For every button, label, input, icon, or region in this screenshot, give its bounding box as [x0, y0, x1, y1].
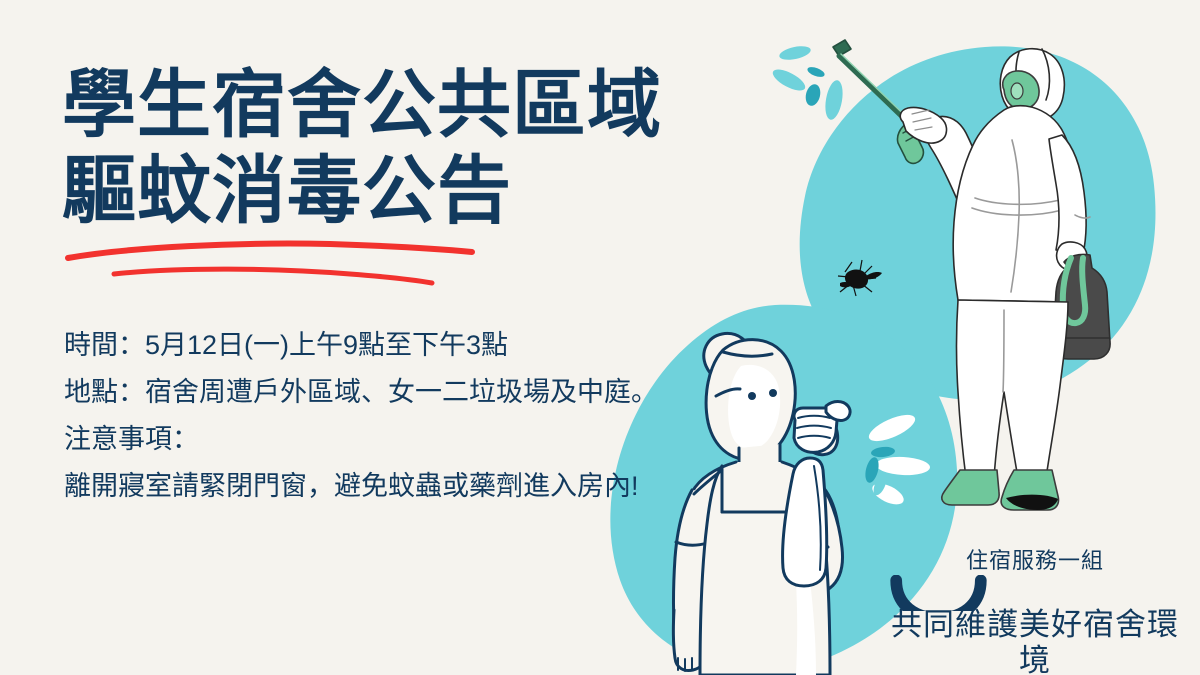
woman-eye-left	[748, 392, 756, 400]
footer-org-name: 住宿服務一組	[880, 548, 1190, 574]
smile-arc-icon	[880, 575, 997, 611]
spray-droplets-bottle	[863, 410, 930, 509]
footer-lockup: 住宿服務一組 共同維護美好宿舍環境	[880, 548, 1190, 675]
footer-slogan: 共同維護美好宿舍環境	[880, 607, 1190, 675]
poster-canvas: 學生宿舍公共區域 驅蚊消毒公告 時間：5月12日(一)上午9點至下午3點 地點：…	[0, 0, 1200, 675]
woman-eye-right	[769, 389, 777, 397]
